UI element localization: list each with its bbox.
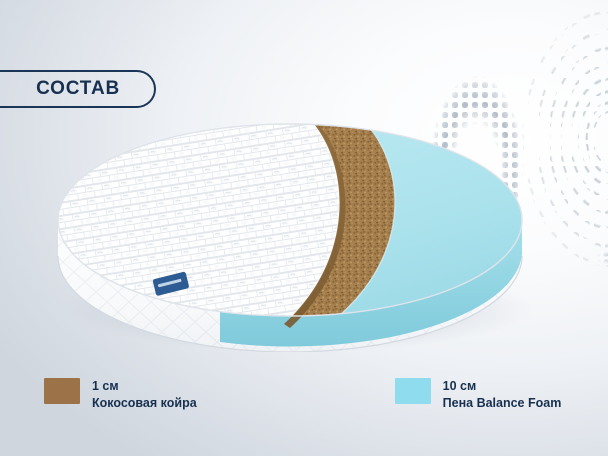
- legend: 1 см Кокосовая койра 10 см Пена Balance …: [44, 378, 564, 412]
- promo-slide: СОСТАВ: [0, 0, 608, 456]
- section-title-badge: СОСТАВ: [0, 70, 156, 108]
- legend-thickness-foam: 10 см: [443, 378, 562, 395]
- legend-item-foam: 10 см Пена Balance Foam: [395, 378, 562, 412]
- mattress-cutaway-illustration: [52, 112, 572, 352]
- legend-item-coir: 1 см Кокосовая койра: [44, 378, 197, 412]
- coir-swatch-icon: [44, 378, 80, 404]
- page-title: СОСТАВ: [36, 78, 120, 100]
- legend-thickness-coir: 1 см: [92, 378, 197, 395]
- legend-name-foam: Пена Balance Foam: [443, 395, 562, 412]
- foam-swatch-icon: [395, 378, 431, 404]
- legend-name-coir: Кокосовая койра: [92, 395, 197, 412]
